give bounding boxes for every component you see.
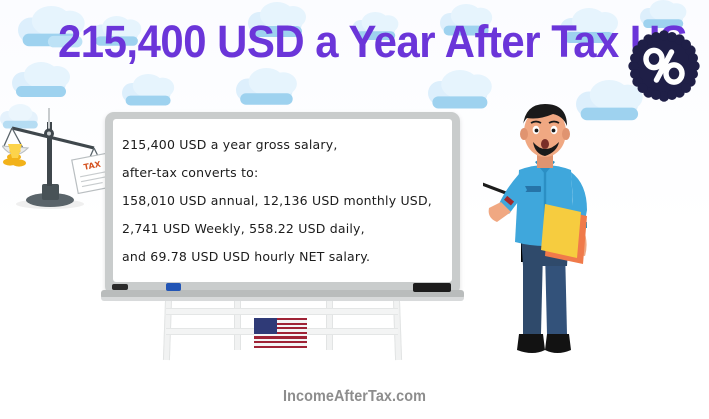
whiteboard-tray-shadow bbox=[101, 297, 464, 301]
whiteboard-line-1: 215,400 USD a year gross salary, bbox=[122, 131, 442, 159]
teacher-pointing-icon bbox=[483, 98, 643, 368]
black-marker-icon bbox=[112, 284, 128, 290]
whiteboard-line-2: after-tax converts to: bbox=[122, 159, 442, 187]
percent-badge-icon bbox=[628, 30, 700, 102]
whiteboard-line-4: 2,741 USD Weekly, 558.22 USD daily, bbox=[122, 215, 442, 243]
page-title: 215,400 USD a Year After Tax US bbox=[58, 17, 616, 67]
us-flag-icon bbox=[254, 318, 307, 348]
balance-scale-icon: TAX bbox=[2, 100, 110, 212]
whiteboard-text: 215,400 USD a year gross salary, after-t… bbox=[122, 131, 442, 271]
whiteboard-line-5: and 69.78 USD USD hourly NET salary. bbox=[122, 243, 442, 271]
infographic-canvas: 215,400 USD a Year After Tax US bbox=[0, 0, 709, 419]
whiteboard-line-3: 158,010 USD annual, 12,136 USD monthly U… bbox=[122, 187, 442, 215]
blue-eraser-icon bbox=[166, 283, 181, 291]
site-footer: IncomeAfterTax.com bbox=[35, 388, 673, 406]
black-eraser-icon bbox=[413, 283, 451, 292]
